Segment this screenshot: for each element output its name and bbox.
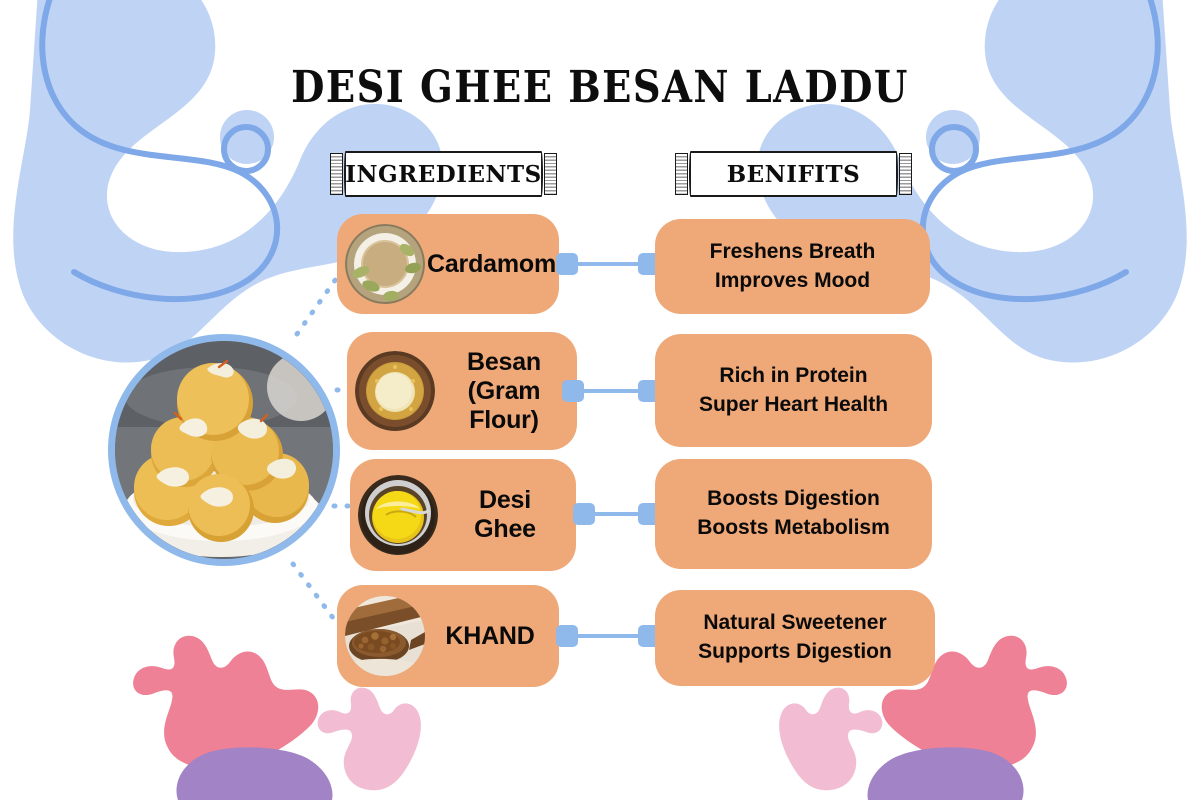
benefit-line: Freshens Breath [710, 238, 876, 267]
connector-nub-left [562, 380, 584, 402]
infographic-canvas: DESI GHEE BESAN LADDU INGREDIENTS BENIFI… [0, 0, 1200, 800]
benefit-line: Super Heart Health [699, 391, 888, 420]
benefit-card-cardamom[interactable]: Freshens Breath Improves Mood [655, 219, 930, 314]
benefit-card-khand[interactable]: Natural Sweetener Supports Digestion [655, 590, 935, 686]
cardamom-thumbnail [345, 224, 425, 304]
hero-laddu-photo [108, 334, 340, 566]
banner-ribbon-end-left [330, 153, 343, 195]
connector-besan [562, 380, 660, 402]
header-banner-ingredients: INGREDIENTS [330, 151, 557, 197]
benefit-line: Boosts Metabolism [697, 514, 890, 543]
banner-body: BENIFITS [689, 151, 898, 197]
ingredient-card-desi-ghee[interactable]: Desi Ghee [350, 459, 576, 571]
laddu-illustration [115, 341, 333, 559]
ingredient-card-cardamom[interactable]: Cardamom [337, 214, 559, 314]
benefit-card-besan[interactable]: Rich in Protein Super Heart Health [655, 334, 932, 447]
connector-nub-left [556, 253, 578, 275]
banner-ribbon-end-left [675, 153, 688, 195]
header-banner-benefits: BENIFITS [675, 151, 912, 197]
benefit-line: Supports Digestion [698, 638, 892, 667]
page-title: DESI GHEE BESAN LADDU [18, 62, 1182, 113]
ingredient-card-besan[interactable]: Besan (Gram Flour) [347, 332, 577, 450]
connector-nub-left [573, 503, 595, 525]
banner-ribbon-end-right [544, 153, 557, 195]
ghee-thumbnail [358, 475, 438, 555]
ingredient-label: Cardamom [425, 250, 562, 279]
ingredient-label: Desi Ghee [438, 486, 576, 544]
ingredient-label: Besan (Gram Flour) [435, 348, 577, 435]
connector-nub-left [556, 625, 578, 647]
benefit-line: Rich in Protein [719, 362, 867, 391]
ingredient-card-khand[interactable]: KHAND [337, 585, 559, 687]
connector-khand [556, 625, 660, 647]
connector-cardamom [556, 253, 660, 275]
khand-thumbnail [345, 596, 425, 676]
connector-desi-ghee [573, 503, 660, 525]
benefits-header-label: BENIFITS [727, 161, 861, 188]
benefit-line: Boosts Digestion [707, 485, 880, 514]
benefit-line: Natural Sweetener [703, 609, 886, 638]
banner-body: INGREDIENTS [344, 151, 543, 197]
besan-thumbnail [355, 351, 435, 431]
benefit-line: Improves Mood [715, 267, 870, 296]
ingredient-label: KHAND [425, 622, 559, 651]
banner-ribbon-end-right [899, 153, 912, 195]
ingredients-header-label: INGREDIENTS [345, 161, 542, 188]
benefit-card-desi-ghee[interactable]: Boosts Digestion Boosts Metabolism [655, 459, 932, 569]
